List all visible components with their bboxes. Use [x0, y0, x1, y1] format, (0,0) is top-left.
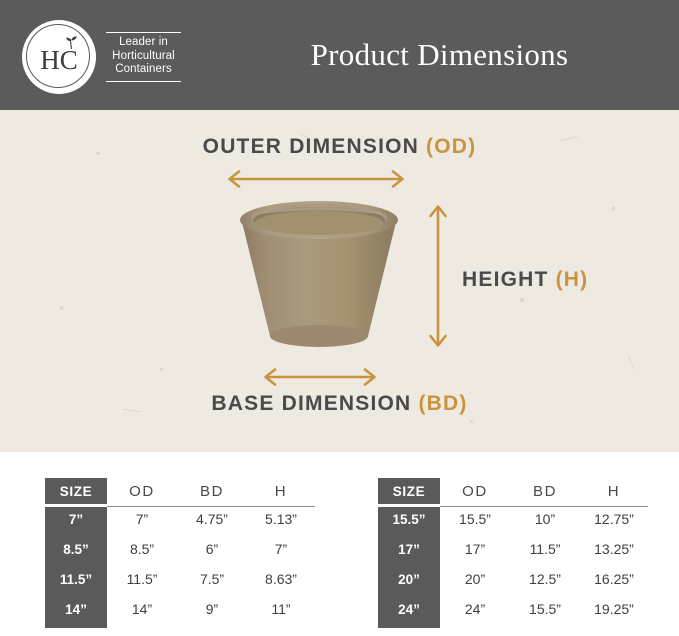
value-cell: 24”	[440, 594, 510, 624]
value-cell: 15.5”	[510, 594, 580, 624]
texture-speck	[612, 206, 615, 211]
size-cell: 15.5”	[378, 504, 440, 534]
size-cell: 7”	[45, 504, 107, 534]
texture-speck	[60, 306, 63, 310]
column-header-bd: BD	[510, 478, 580, 504]
table-row: 11.5”11.5”7.5”8.63”	[45, 564, 315, 594]
outer-dimension-abbr: (OD)	[426, 135, 476, 158]
table-row: 14”14”9”11”	[45, 594, 315, 624]
value-cell: 15.5”	[440, 504, 510, 534]
value-cell: 17”	[440, 534, 510, 564]
value-cell: 5.13”	[247, 504, 315, 534]
value-cell: 12.75”	[580, 504, 648, 534]
value-cell: 20”	[440, 564, 510, 594]
hc-logo-icon: HC	[22, 20, 96, 94]
texture-speck	[520, 298, 524, 302]
table-row: 20”20”12.5”16.25”	[378, 564, 648, 594]
column-header-od: OD	[440, 478, 510, 504]
page-title: Product Dimensions	[200, 0, 679, 110]
column-header-bd: BD	[177, 478, 247, 504]
size-cell: 24”	[378, 594, 440, 624]
product-dimensions-infographic: HC Leader in Horticultural Containers Pr…	[0, 0, 679, 636]
dimensions-table: SIZEODBDH 7”7”4.75”5.13”8.5”8.5”6”7”11.5…	[45, 478, 315, 624]
size-cell: 14”	[45, 594, 107, 624]
table-body: 7”7”4.75”5.13”8.5”8.5”6”7”11.5”11.5”7.5”…	[45, 504, 315, 624]
table-header-row: SIZEODBDH	[45, 478, 315, 504]
table-row: 24”24”15.5”19.25”	[378, 594, 648, 624]
column-header-size: SIZE	[378, 478, 440, 504]
height-label: HEIGHT (H)	[462, 268, 588, 292]
logo-tagline-block: Leader in Horticultural Containers	[106, 32, 181, 82]
value-cell: 10”	[510, 504, 580, 534]
table-row: 17”17”11.5”13.25”	[378, 534, 648, 564]
column-header-h: H	[580, 478, 648, 504]
value-cell: 11”	[247, 594, 315, 624]
value-cell: 7”	[247, 534, 315, 564]
value-cell: 14”	[107, 594, 177, 624]
size-cell: 8.5”	[45, 534, 107, 564]
table-row: 7”7”4.75”5.13”	[45, 504, 315, 534]
value-cell: 7.5”	[177, 564, 247, 594]
base-dimension-abbr: (BD)	[418, 392, 467, 415]
value-cell: 16.25”	[580, 564, 648, 594]
value-cell: 9”	[177, 594, 247, 624]
value-cell: 8.63”	[247, 564, 315, 594]
height-text: HEIGHT	[462, 268, 556, 291]
outer-dimension-text: OUTER DIMENSION	[203, 135, 426, 158]
texture-speck	[470, 420, 473, 423]
size-cell: 11.5”	[45, 564, 107, 594]
height-arrow	[427, 200, 449, 352]
value-cell: 7”	[107, 504, 177, 534]
value-cell: 8.5”	[107, 534, 177, 564]
size-cell: 17”	[378, 534, 440, 564]
logo-monogram: HC	[22, 20, 96, 94]
dimensions-table: SIZEODBDH 15.5”15.5”10”12.75”17”17”11.5”…	[378, 478, 648, 624]
value-cell: 4.75”	[177, 504, 247, 534]
table-row: 15.5”15.5”10”12.75”	[378, 504, 648, 534]
brand-logo: HC Leader in Horticultural Containers	[22, 18, 197, 96]
size-table-right: SIZEODBDH 15.5”15.5”10”12.75”17”17”11.5”…	[378, 478, 648, 628]
value-cell: 12.5”	[510, 564, 580, 594]
base-dimension-text: BASE DIMENSION	[211, 392, 418, 415]
outer-dimension-label: OUTER DIMENSION (OD)	[0, 135, 679, 159]
base-dimension-label: BASE DIMENSION (BD)	[0, 392, 679, 416]
table-body: 15.5”15.5”10”12.75”17”17”11.5”13.25”20”2…	[378, 504, 648, 624]
size-cell: 20”	[378, 564, 440, 594]
planter-pot-illustration	[228, 196, 410, 360]
base-dimension-arrow	[258, 366, 382, 388]
height-abbr: (H)	[556, 268, 589, 291]
table-header-row: SIZEODBDH	[378, 478, 648, 504]
column-header-h: H	[247, 478, 315, 504]
value-cell: 19.25”	[580, 594, 648, 624]
brand-tagline: Leader in Horticultural Containers	[112, 33, 175, 81]
column-header-od: OD	[107, 478, 177, 504]
table-row: 8.5”8.5”6”7”	[45, 534, 315, 564]
header-bar: HC Leader in Horticultural Containers Pr…	[0, 0, 679, 110]
column-header-size: SIZE	[45, 478, 107, 504]
tagline-rule-bottom	[106, 81, 181, 82]
value-cell: 13.25”	[580, 534, 648, 564]
value-cell: 11.5”	[107, 564, 177, 594]
texture-speck	[160, 368, 163, 371]
outer-dimension-arrow	[222, 168, 410, 190]
value-cell: 11.5”	[510, 534, 580, 564]
size-table-left: SIZEODBDH 7”7”4.75”5.13”8.5”8.5”6”7”11.5…	[45, 478, 315, 628]
value-cell: 6”	[177, 534, 247, 564]
